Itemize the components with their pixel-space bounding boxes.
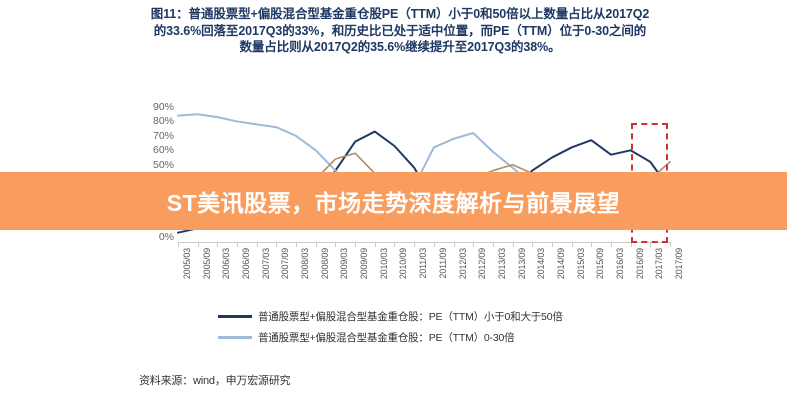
x-axis-tick-label: 2008/03: [300, 248, 310, 279]
y-axis-tick-label: 50%: [153, 159, 174, 171]
x-axis-tick-label: 2011/09: [438, 248, 448, 278]
x-axis-tick-label: 2007/03: [261, 248, 271, 279]
x-axis-tick: [454, 242, 455, 247]
figure-root: 图11：普通股票型+偏股混合型基金重仓股PE（TTM）小于0和50倍以上数量占比…: [0, 0, 787, 400]
x-axis-ticks: [178, 242, 670, 247]
x-axis-tick: [335, 242, 336, 247]
x-axis-tick-label: 2007/09: [280, 248, 290, 279]
x-axis-tick: [375, 242, 376, 247]
x-axis-tick-label: 2014/03: [536, 248, 546, 279]
y-axis-tick-label: 0%: [159, 231, 174, 243]
x-axis-tick: [276, 242, 277, 247]
overlay-banner: ST美讯股票，市场走势深度解析与前景展望: [0, 172, 787, 230]
x-axis-tick: [355, 242, 356, 247]
x-axis-tick: [414, 242, 415, 247]
x-axis-tick-label: 2012/09: [477, 248, 487, 279]
x-axis-tick: [650, 242, 651, 247]
x-axis-tick: [532, 242, 533, 247]
x-axis-tick-label: 2016/03: [615, 248, 625, 279]
x-axis-tick-label: 2005/09: [202, 248, 212, 279]
legend-swatch-icon-0: [218, 315, 252, 318]
x-axis-tick: [316, 242, 317, 247]
x-axis-tick-label: 2010/09: [398, 248, 408, 279]
legend-swatch-icon-1: [218, 336, 252, 339]
x-axis-tick-label: 2006/03: [221, 248, 231, 279]
x-axis-tick-label: 2006/09: [241, 248, 251, 279]
x-axis-tick-label: 2010/03: [379, 248, 389, 279]
legend-label-1: 普通股票型+偏股混合型基金重仓股：PE（TTM）0-30倍: [258, 330, 514, 345]
x-axis-tick: [552, 242, 553, 247]
x-axis-tick: [572, 242, 573, 247]
source-note: 资料来源：wind，申万宏源研究: [139, 372, 290, 388]
x-axis-tick: [237, 242, 238, 247]
legend-label-0: 普通股票型+偏股混合型基金重仓股：PE（TTM）小于0和大于50倍: [258, 309, 563, 324]
x-axis-labels: 2005/032005/092006/032006/092007/032007/…: [178, 248, 670, 303]
x-axis-tick-label: 2008/09: [320, 248, 330, 279]
x-axis-tick: [473, 242, 474, 247]
y-axis-tick-label: 80%: [153, 115, 174, 127]
x-axis-tick-label: 2014/09: [556, 248, 566, 279]
x-axis-tick-label: 2009/03: [339, 248, 349, 279]
x-axis-tick-label: 2017/03: [654, 248, 664, 279]
x-axis-tick: [198, 242, 199, 247]
figure-title: 图11：普通股票型+偏股混合型基金重仓股PE（TTM）小于0和50倍以上数量占比…: [150, 6, 650, 56]
x-axis-tick: [591, 242, 592, 247]
x-axis-tick-label: 2016/09: [635, 248, 645, 279]
x-axis-tick-label: 2013/09: [517, 248, 527, 279]
x-axis-tick-label: 2017/09: [674, 248, 684, 279]
x-axis-tick: [178, 242, 179, 247]
x-axis-tick-label: 2011/03: [418, 248, 428, 278]
x-axis-tick: [611, 242, 612, 247]
banner-headline: ST美讯股票，市场走势深度解析与前景展望: [167, 184, 620, 218]
x-axis-tick-label: 2013/03: [497, 248, 507, 279]
x-axis-tick: [217, 242, 218, 247]
x-axis-tick-label: 2012/03: [458, 248, 468, 279]
x-axis-tick: [670, 242, 671, 247]
y-axis-tick-label: 60%: [153, 144, 174, 156]
x-axis-tick: [493, 242, 494, 247]
chart-legend: 普通股票型+偏股混合型基金重仓股：PE（TTM）小于0和大于50倍 普通股票型+…: [218, 306, 688, 348]
x-axis-tick: [434, 242, 435, 247]
legend-item-1: 普通股票型+偏股混合型基金重仓股：PE（TTM）0-30倍: [218, 327, 688, 348]
x-axis-tick-label: 2005/03: [182, 248, 192, 279]
x-axis-tick: [513, 242, 514, 247]
y-axis-tick-label: 90%: [153, 101, 174, 113]
x-axis-tick-label: 2015/03: [576, 248, 586, 279]
x-axis-tick-label: 2015/09: [595, 248, 605, 279]
x-axis-tick: [394, 242, 395, 247]
legend-item-0: 普通股票型+偏股混合型基金重仓股：PE（TTM）小于0和大于50倍: [218, 306, 688, 327]
x-axis-tick-label: 2009/09: [359, 248, 369, 279]
x-axis-tick: [296, 242, 297, 247]
x-axis-tick: [631, 242, 632, 247]
x-axis-tick: [257, 242, 258, 247]
y-axis-tick-label: 70%: [153, 130, 174, 142]
